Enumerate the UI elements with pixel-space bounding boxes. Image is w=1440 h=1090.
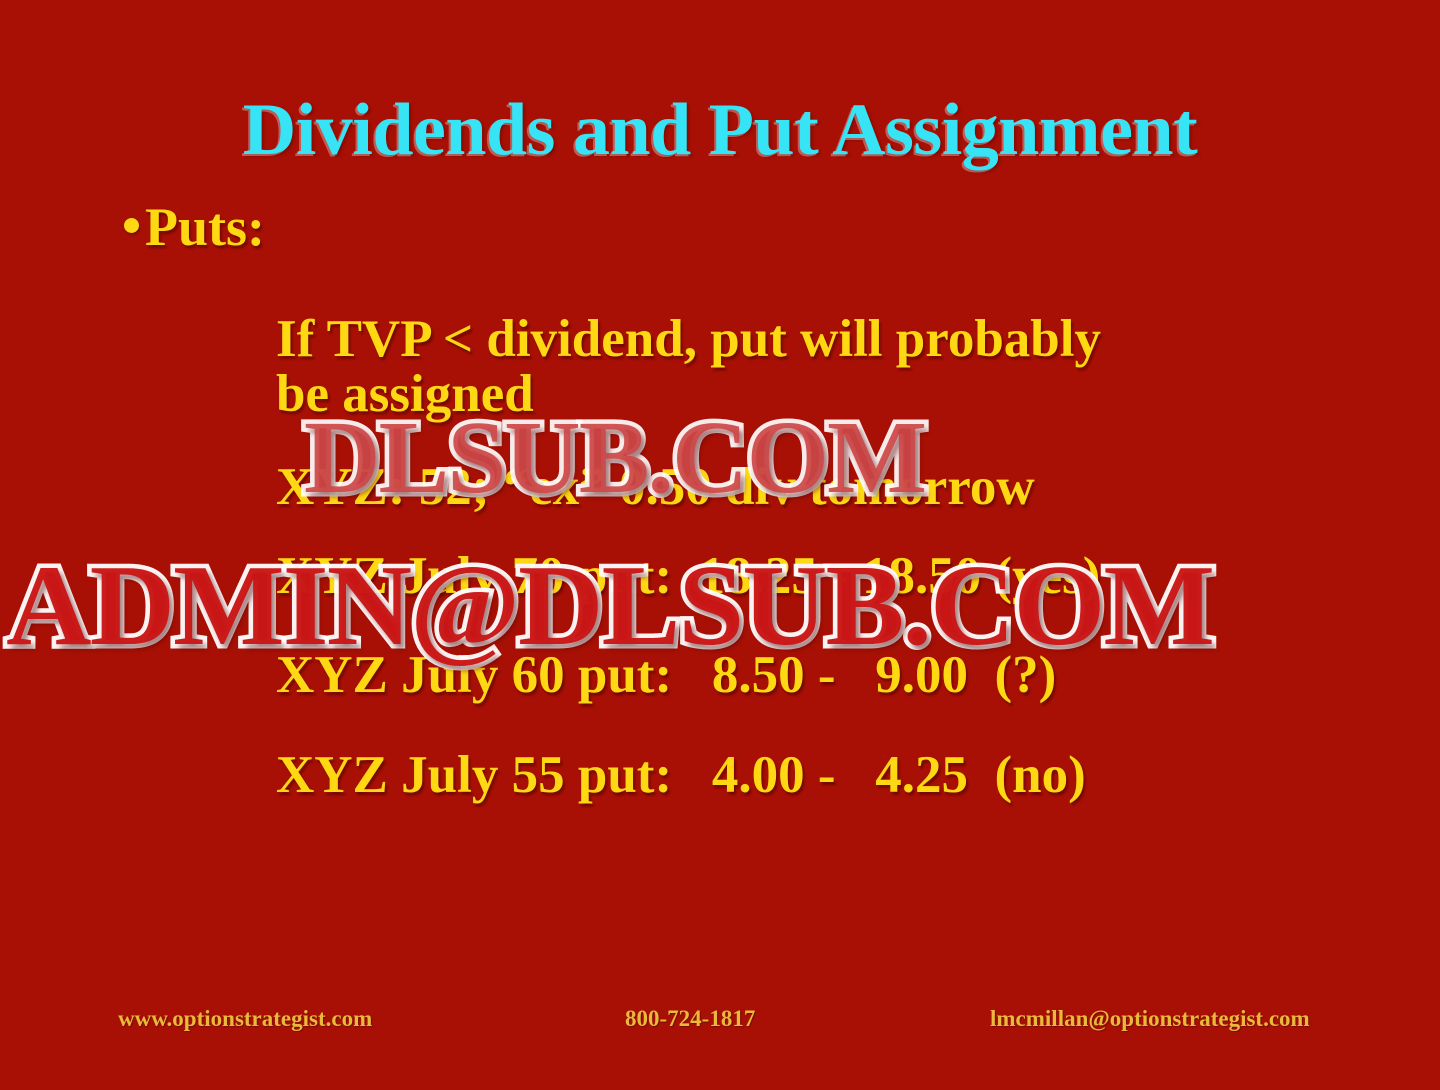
body-line-rule-1: If TVP < dividend, put will probably xyxy=(276,312,1396,367)
body-line-rule-2: be assigned xyxy=(276,367,1396,422)
footer-phone: 800-724-1817 xyxy=(625,1006,755,1032)
bullet-item-label: Puts: xyxy=(145,196,265,258)
body-line-quote-55: XYZ July 55 put: 4.00 - 4.25 (no) xyxy=(276,748,1396,803)
body-line-quote-60: XYZ July 60 put: 8.50 - 9.00 (?) xyxy=(276,648,1396,703)
footer-email: lmcmillan@optionstrategist.com xyxy=(990,1006,1310,1032)
slide-body: If TVP < dividend, put will probably be … xyxy=(276,312,1396,803)
bullet-dot-icon xyxy=(124,218,139,233)
footer-website: www.optionstrategist.com xyxy=(118,1006,372,1032)
presentation-slide: Dividends and Put Assignment Puts: If TV… xyxy=(0,0,1440,1090)
slide-footer: www.optionstrategist.com 800-724-1817 lm… xyxy=(0,1006,1440,1046)
body-line-underlying: XYZ: 52; “ex” 0.50 div tomorrow xyxy=(276,460,1396,515)
page-title: Dividends and Put Assignment xyxy=(0,88,1440,173)
body-line-quote-70: XYZ July 70 put: 18.25 - 18.50 (yes) xyxy=(276,549,1396,604)
bullet-item-puts: Puts: xyxy=(124,196,265,258)
